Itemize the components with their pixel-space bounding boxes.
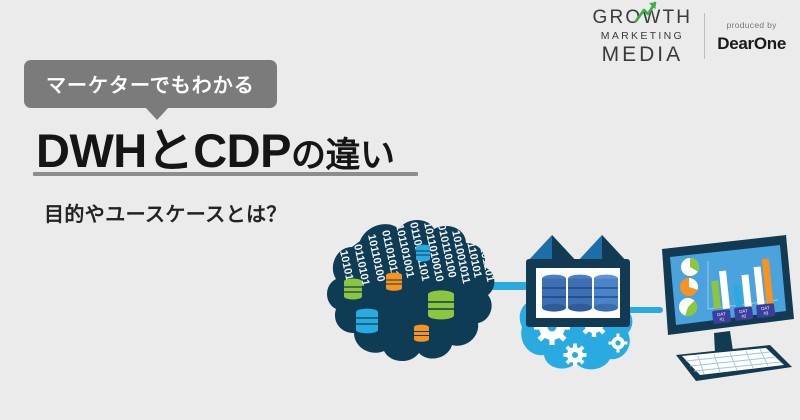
page-subtitle: 目的やユースケースとは？ <box>44 198 287 227</box>
database-icon-2 <box>568 275 592 312</box>
analytics-dashboard-monitor: DAT#1 DAT#2 DAT#3 <box>662 235 794 381</box>
database-icon-orange <box>386 273 402 291</box>
data-card-2: DAT#2 <box>734 306 753 321</box>
logo-line-growth-text: GROWTH <box>592 7 692 28</box>
growth-marketing-media-logo: GROWTH MARKETING MEDIA <box>592 8 692 65</box>
title-divider <box>33 172 418 176</box>
logo-line-media: MEDIA <box>602 44 684 65</box>
page-title-main: DWHとCDP <box>36 124 291 177</box>
page-title-suffix: の違い <box>291 136 395 175</box>
produced-by-label: produced by <box>727 21 777 30</box>
database-icon-3 <box>594 275 618 312</box>
gear-icon <box>564 344 587 367</box>
keyboard-icon <box>676 345 792 381</box>
database-icon-1 <box>542 275 566 312</box>
brand-divider <box>704 13 705 59</box>
pie-chart-orange <box>680 278 698 296</box>
warehouse-database-group <box>542 275 618 312</box>
eyebrow-badge-wrapper: マーケターでもわかる <box>24 60 277 120</box>
warehouse-roof-left-shadow <box>552 235 578 263</box>
slide-canvas: GROWTH MARKETING MEDIA produced by DearO… <box>0 0 800 420</box>
page-title: DWHとCDPの違い <box>36 112 395 181</box>
binary-data-cloud: 1010110 0110101 10110100 011010110 10110… <box>327 220 496 361</box>
data-warehouse-building <box>520 235 633 369</box>
data-card-3: DAT#3 <box>756 303 775 318</box>
data-card-1: DAT#1 <box>712 309 731 324</box>
database-icon-green-large <box>428 290 454 319</box>
pie-chart-green <box>681 258 699 276</box>
dearone-logo-text: DearOne <box>717 35 786 52</box>
database-icon-orange-small <box>414 325 429 342</box>
database-icon-green <box>344 279 362 300</box>
logo-line-growth: GROWTH <box>592 8 692 27</box>
database-icon-blue <box>356 309 378 334</box>
warehouse-roof-right-shadow <box>602 235 628 263</box>
brand-logo-group: GROWTH MARKETING MEDIA produced by DearO… <box>592 8 786 65</box>
logo-line-marketing: MARKETING <box>601 31 684 42</box>
eyebrow-badge: マーケターでもわかる <box>24 60 277 108</box>
dwh-cdp-data-flow-illustration: 1010110 0110101 10110100 011010110 10110… <box>300 215 800 390</box>
database-icon-blue-small <box>416 245 430 262</box>
produced-by-block: produced by DearOne <box>717 21 786 52</box>
pie-chart-green-2 <box>679 298 697 316</box>
